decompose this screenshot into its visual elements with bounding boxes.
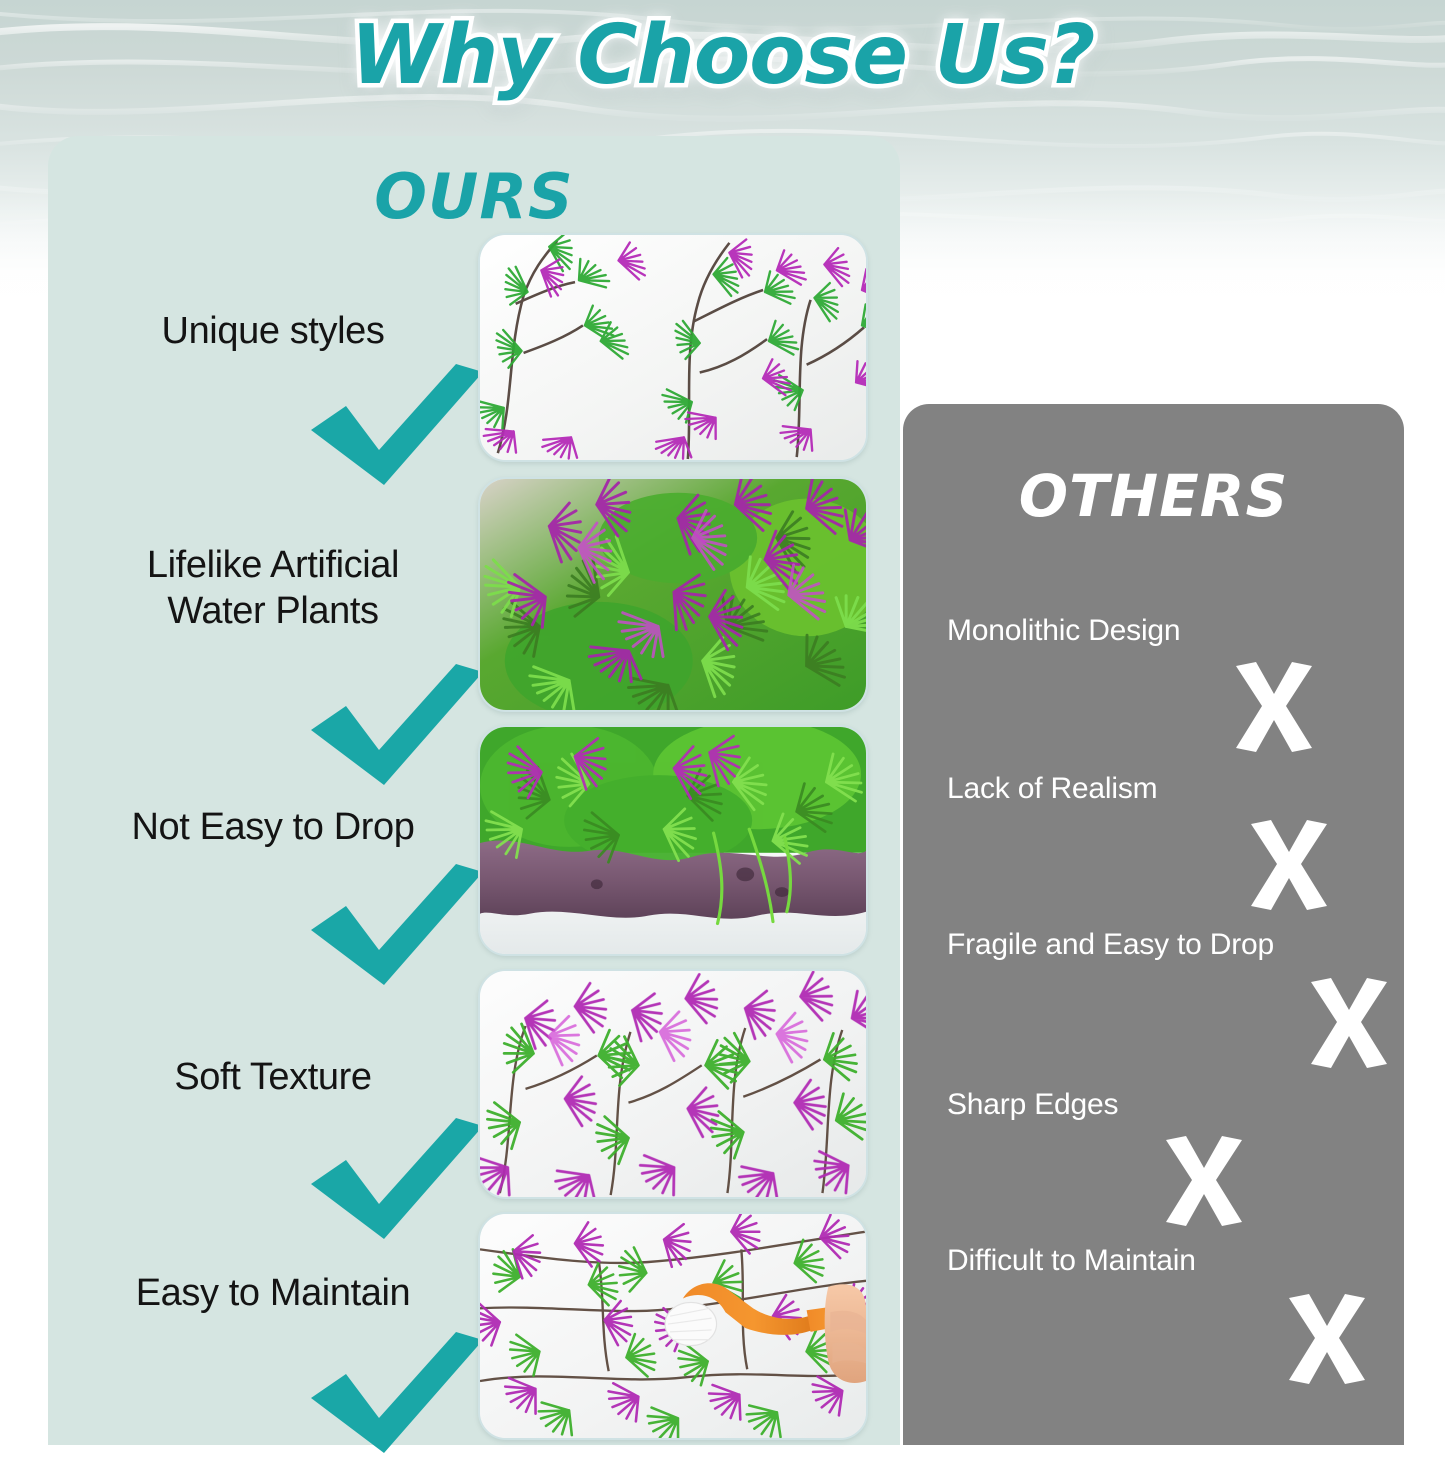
ours-item-label-2: Lifelike Artificial Water Plants [58, 542, 488, 635]
ours-item-label-5: Easy to Maintain [58, 1270, 488, 1316]
page-title-wrap: Why Choose Us? [0, 8, 1445, 118]
others-item-label-3: Fragile and Easy to Drop [947, 928, 1274, 962]
ours-item-label-1: Unique styles [58, 308, 488, 354]
ours-item-label-4: Soft Texture [58, 1054, 488, 1100]
others-item-label-2: Lack of Realism [947, 772, 1157, 806]
product-photo-1 [478, 233, 868, 462]
product-photo-2 [478, 477, 868, 712]
check-icon [306, 1332, 486, 1457]
ours-panel: OURS Unique styles Lifelike Artificial W… [48, 136, 900, 1445]
x-mark-icon [1243, 820, 1335, 910]
check-icon [306, 664, 486, 789]
others-heading: OTHERS [903, 462, 1404, 530]
product-photo-4 [478, 969, 868, 1199]
page-title: Why Choose Us? [351, 8, 1095, 103]
product-photo-5 [478, 1212, 868, 1440]
others-item-label-4: Sharp Edges [947, 1088, 1118, 1122]
others-item-label-5: Difficult to Maintain [947, 1244, 1196, 1278]
check-icon [306, 364, 486, 489]
ours-heading: OURS [48, 160, 900, 233]
ours-item-label-3: Not Easy to Drop [58, 804, 488, 850]
check-icon [306, 1118, 486, 1243]
x-mark-icon [1303, 978, 1395, 1068]
product-photo-3 [478, 725, 868, 956]
x-mark-icon [1281, 1294, 1373, 1384]
check-icon [306, 864, 486, 989]
x-mark-icon [1158, 1136, 1250, 1226]
x-mark-icon [1228, 662, 1320, 752]
others-item-label-1: Monolithic Design [947, 614, 1180, 648]
others-panel: OTHERS Monolithic Design Lack of Realism… [903, 404, 1404, 1445]
